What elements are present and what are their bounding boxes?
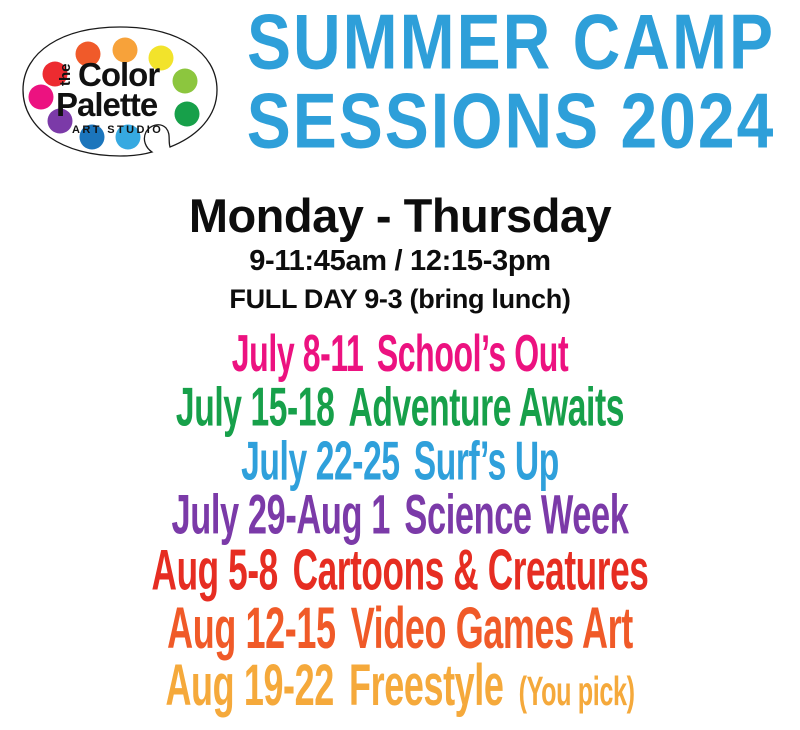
session-theme: Cartoons & Creatures (293, 539, 649, 603)
summer-camp-flyer: the Color Palette ART STUDIO SUMMER CAMP… (0, 0, 800, 728)
session-list: July 8-11School’s OutJuly 15-18Adventure… (0, 336, 800, 721)
session-dates: Aug 5-8 (152, 539, 278, 603)
session-theme: Science Week (404, 484, 628, 546)
session-theme: Surf’s Up (414, 430, 559, 491)
title-line-sessions-year: SESSIONS 2024 (228, 85, 794, 157)
schedule-days: Monday - Thursday (0, 192, 800, 241)
flyer-title: SUMMER CAMP SESSIONS 2024 (228, 6, 794, 145)
dot-magenta-icon (29, 85, 54, 110)
session-dates: July 15-18 (176, 376, 335, 437)
logo-tagline: ART STUDIO (72, 124, 163, 136)
schedule-full-day: FULL DAY 9-3 (bring lunch) (0, 282, 800, 317)
dot-yellow-green-icon (173, 69, 198, 94)
session-dates: July 8-11 (232, 326, 364, 383)
session-note: (You pick) (519, 667, 635, 714)
session-dates: Aug 19-22 (165, 652, 333, 718)
schedule-header: Monday - Thursday 9-11:45am / 12:15-3pm … (0, 192, 800, 317)
session-dates: July 29-Aug 1 (172, 484, 390, 546)
logo-palette: Palette (56, 86, 158, 123)
dot-green-icon (175, 102, 200, 127)
session-theme: School’s Out (377, 326, 568, 383)
logo-the: the (57, 64, 74, 87)
session-dates: July 22-25 (241, 430, 400, 491)
color-palette-logo: the Color Palette ART STUDIO (18, 24, 222, 160)
session-row: Aug 19-22Freestyle(You pick) (80, 655, 720, 729)
schedule-times: 9-11:45am / 12:15-3pm (0, 243, 800, 281)
title-line-summer-camp: SUMMER CAMP (228, 6, 794, 78)
session-theme: Adventure Awaits (349, 376, 625, 437)
session-theme: Freestyle (349, 652, 504, 718)
